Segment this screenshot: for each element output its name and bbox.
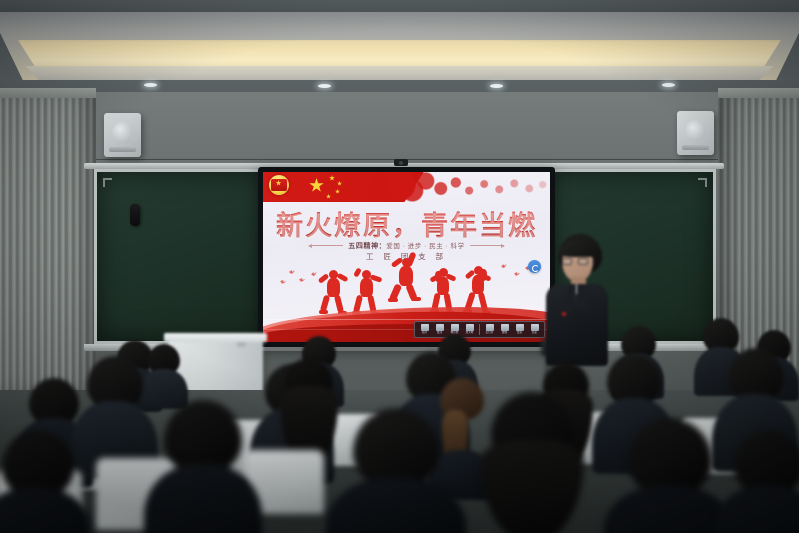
left-wall-speaker (104, 113, 141, 157)
fluted-panel-cap-left (0, 88, 96, 98)
chinese-national-flag-banner (263, 172, 550, 202)
toolbar-label: 幻灯片 (486, 332, 494, 335)
board-corner-bracket (698, 178, 707, 187)
blackboard-eraser[interactable] (130, 204, 140, 226)
lapel-pin-badge (562, 312, 566, 316)
toolbar-item-more[interactable]: 更多 (513, 324, 526, 335)
toolbar-separator (479, 324, 480, 335)
toolbar-item-slides[interactable]: 幻灯片 (483, 324, 496, 335)
board-corner-bracket (103, 178, 112, 187)
toolbar-label: 放映 (502, 332, 507, 335)
subtitle-rule-left (309, 245, 343, 246)
communist-youth-league-emblem (269, 175, 289, 195)
audience-member-foreground (466, 392, 598, 533)
fluted-panel-cap-right (718, 88, 799, 98)
emblem-banner (271, 179, 287, 191)
audience-member-foreground (716, 430, 799, 533)
speaker-cone-icon (685, 120, 706, 141)
fluted-wall-panel-left (0, 92, 96, 392)
slide-title: 新火燎原，青年当燃 (263, 204, 550, 243)
ribbon-highlight (263, 319, 550, 320)
speaker-vent (682, 145, 709, 150)
lectern-top (164, 333, 267, 342)
flag-paint-spray (389, 172, 550, 202)
downlight-icon (144, 83, 157, 87)
eyeglasses-icon (562, 258, 588, 265)
toolbar-label: 结束 (532, 332, 537, 335)
audience-member-foreground (604, 418, 734, 533)
cove-light-glow (18, 40, 781, 70)
downlight-icon (490, 84, 503, 88)
toolbar-item-show[interactable]: 放映 (498, 324, 511, 335)
lectern-control-knob[interactable] (237, 342, 246, 347)
downlight-icon (318, 84, 331, 88)
ceiling-camera-icon (394, 159, 408, 166)
ceiling-soffit (0, 0, 799, 14)
right-wall-speaker (677, 111, 714, 155)
audience-member-foreground (326, 408, 466, 533)
presenter-speaker (540, 234, 612, 364)
speaker-vent (109, 147, 136, 152)
audience-member-foreground (0, 430, 90, 533)
toolbar-label: 指针 (422, 332, 427, 335)
presentation-slide: 新火燎原，青年当燃 五四精神：爱国 · 进步 · 民主 · 科学 工 匠 团 支… (263, 172, 550, 342)
audience-member-foreground (144, 400, 262, 533)
interactive-flat-panel-display[interactable]: 新火燎原，青年当燃 五四精神：爱国 · 进步 · 民主 · 科学 工 匠 团 支… (258, 167, 555, 347)
speaker-cone-icon (112, 122, 133, 143)
toolbar-label: 更多 (517, 332, 522, 335)
subtitle-rule-right (470, 245, 504, 246)
classroom-photo-scene: 新火燎原，青年当燃 五四精神：爱国 · 进步 · 民主 · 科学 工 匠 团 支… (0, 0, 799, 533)
downlight-icon (662, 83, 675, 87)
